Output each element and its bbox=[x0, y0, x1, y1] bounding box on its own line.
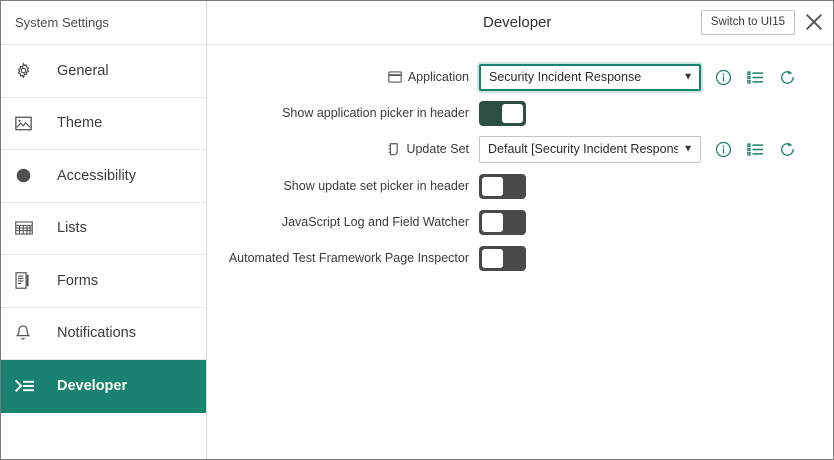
image-icon bbox=[15, 116, 41, 131]
refresh-icon[interactable] bbox=[777, 139, 797, 159]
toggle-knob bbox=[482, 213, 503, 232]
application-row: Application Security Incident Response ▼ bbox=[207, 59, 834, 95]
update-set-row: Update Set Default [Security Incident Re… bbox=[207, 131, 834, 167]
sidebar-item-theme[interactable]: Theme bbox=[1, 98, 206, 151]
developer-settings-form: Application Security Incident Response ▼ bbox=[207, 45, 834, 459]
switch-to-ui15-button[interactable]: Switch to UI15 bbox=[701, 10, 795, 35]
update-set-label: Update Set bbox=[406, 142, 469, 156]
atf-page-inspector-row: Automated Test Framework Page Inspector bbox=[207, 240, 834, 276]
toggle-knob bbox=[502, 104, 523, 123]
info-icon[interactable] bbox=[713, 67, 733, 87]
sidebar-item-label: Notifications bbox=[57, 326, 136, 341]
sidebar-item-lists[interactable]: Lists bbox=[1, 203, 206, 256]
list-icon[interactable] bbox=[745, 67, 765, 87]
application-label-cell: Application bbox=[207, 70, 479, 84]
form-document-icon bbox=[15, 272, 41, 289]
list-icon[interactable] bbox=[745, 139, 765, 159]
sidebar-item-developer[interactable]: Developer bbox=[1, 360, 206, 413]
javascript-log-label: JavaScript Log and Field Watcher bbox=[207, 215, 479, 229]
show-application-picker-label: Show application picker in header bbox=[207, 106, 479, 120]
gear-icon bbox=[15, 62, 41, 79]
application-select[interactable]: Security Incident Response bbox=[479, 64, 701, 91]
toggle-knob bbox=[482, 249, 503, 268]
sidebar-item-label: Developer bbox=[57, 379, 127, 394]
atf-page-inspector-toggle[interactable] bbox=[479, 246, 526, 271]
update-set-actions bbox=[713, 139, 797, 159]
toggle-knob bbox=[482, 177, 503, 196]
sidebar-item-label: General bbox=[57, 64, 109, 79]
show-update-set-picker-toggle[interactable] bbox=[479, 174, 526, 199]
sidebar-item-accessibility[interactable]: Accessibility bbox=[1, 150, 206, 203]
circle-icon bbox=[15, 167, 41, 184]
show-application-picker-row: Show application picker in header bbox=[207, 95, 834, 131]
javascript-log-row: JavaScript Log and Field Watcher bbox=[207, 204, 834, 240]
update-set-select-wrap: Default [Security Incident Response ▼ bbox=[479, 136, 701, 163]
page-title: Developer bbox=[483, 14, 551, 31]
atf-page-inspector-label: Automated Test Framework Page Inspector bbox=[207, 251, 479, 265]
application-window-icon bbox=[388, 71, 402, 83]
update-set-box-icon bbox=[387, 142, 400, 156]
refresh-icon[interactable] bbox=[777, 67, 797, 87]
bell-icon bbox=[15, 324, 41, 342]
sidebar-item-notifications[interactable]: Notifications bbox=[1, 308, 206, 361]
show-update-set-picker-row: Show update set picker in header bbox=[207, 168, 834, 204]
code-prompt-icon bbox=[15, 378, 41, 394]
update-set-label-cell: Update Set bbox=[207, 142, 479, 156]
sidebar-item-general[interactable]: General bbox=[1, 45, 206, 98]
info-icon[interactable] bbox=[713, 139, 733, 159]
sidebar: System Settings General Theme bbox=[1, 1, 207, 459]
sidebar-item-label: Theme bbox=[57, 116, 102, 131]
dialog-header: Developer Switch to UI15 bbox=[207, 1, 834, 45]
sidebar-item-forms[interactable]: Forms bbox=[1, 255, 206, 308]
javascript-log-toggle[interactable] bbox=[479, 210, 526, 235]
system-settings-dialog: System Settings General Theme bbox=[0, 0, 834, 460]
application-label: Application bbox=[408, 70, 469, 84]
grid-table-icon bbox=[15, 221, 41, 235]
sidebar-title: System Settings bbox=[1, 1, 206, 45]
sidebar-item-label: Forms bbox=[57, 274, 98, 289]
show-application-picker-toggle[interactable] bbox=[479, 101, 526, 126]
close-icon[interactable] bbox=[798, 6, 830, 38]
sidebar-item-label: Lists bbox=[57, 221, 87, 236]
show-update-set-picker-label: Show update set picker in header bbox=[207, 179, 479, 193]
update-set-select[interactable]: Default [Security Incident Response bbox=[479, 136, 701, 163]
application-select-wrap: Security Incident Response ▼ bbox=[479, 64, 701, 91]
application-actions bbox=[713, 67, 797, 87]
sidebar-item-label: Accessibility bbox=[57, 169, 136, 184]
